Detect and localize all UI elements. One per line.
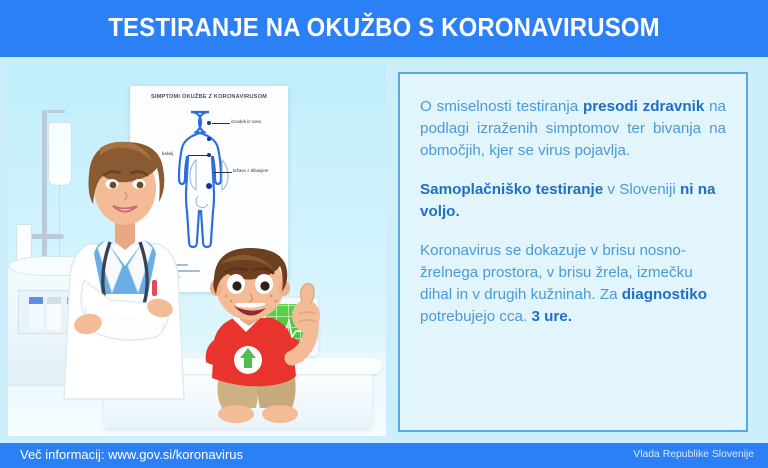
paragraph-2: Samoplačniško testiranje v Sloveniji ni … [420, 179, 726, 223]
footer-bar: Več informacij: www.gov.si/koronavirus V… [0, 443, 768, 468]
page-title: TESTIRANJE NA OKUŽBO S KORONAVIRUSOM [31, 12, 738, 43]
source-attribution: Vlada Republike Slovenije [633, 449, 754, 460]
medicine-box-blue [29, 297, 43, 330]
p3-highlight-three-hours: 3 ure. [531, 308, 572, 325]
infographic-poster: TESTIRANJE NA OKUŽBO S KORONAVIRUSOM SIM… [0, 0, 768, 468]
p2-part-2: v Sloveniji [603, 181, 680, 198]
paragraph-3: Koronavirus se dokazuje v brisu nosno-žr… [420, 240, 726, 328]
symptom-dot-throat [207, 137, 211, 141]
symptom-dot-nose [207, 121, 211, 125]
leader-line-cough [188, 155, 208, 156]
header-bar: TESTIRANJE NA OKUŽBO S KORONAVIRUSOM [0, 0, 768, 57]
information-panel: O smiselnosti testiranja presodi zdravni… [398, 72, 748, 432]
p3-highlight-diagnostics: diagnostiko [622, 286, 707, 303]
paragraph-1: O smiselnosti testiranja presodi zdravni… [420, 96, 726, 162]
p3-part-3: potrebujejo cca. [420, 308, 531, 325]
leader-line-breathing [214, 172, 232, 173]
medicine-box-white [47, 297, 61, 330]
p1-part-1: O smiselnosti testiranja [420, 98, 583, 115]
leader-line-nose [212, 123, 230, 124]
poster-label-nose: izcedek iz nosu [231, 119, 261, 124]
poster-label-breathing: težave z dihanjem [233, 168, 273, 174]
clinic-illustration: SIMPTOMI OKUŽBE Z KORONAVIRUSOM izcedek … [8, 64, 386, 436]
female-doctor [60, 84, 190, 404]
more-info-link[interactable]: Več informacij: www.gov.si/koronavirus [20, 447, 243, 462]
p1-highlight-doctor-decides: presodi zdravnik [583, 98, 704, 115]
p2-highlight-self-paid-testing: Samoplačniško testiranje [420, 181, 603, 198]
boy-thumbs-up [186, 244, 338, 426]
